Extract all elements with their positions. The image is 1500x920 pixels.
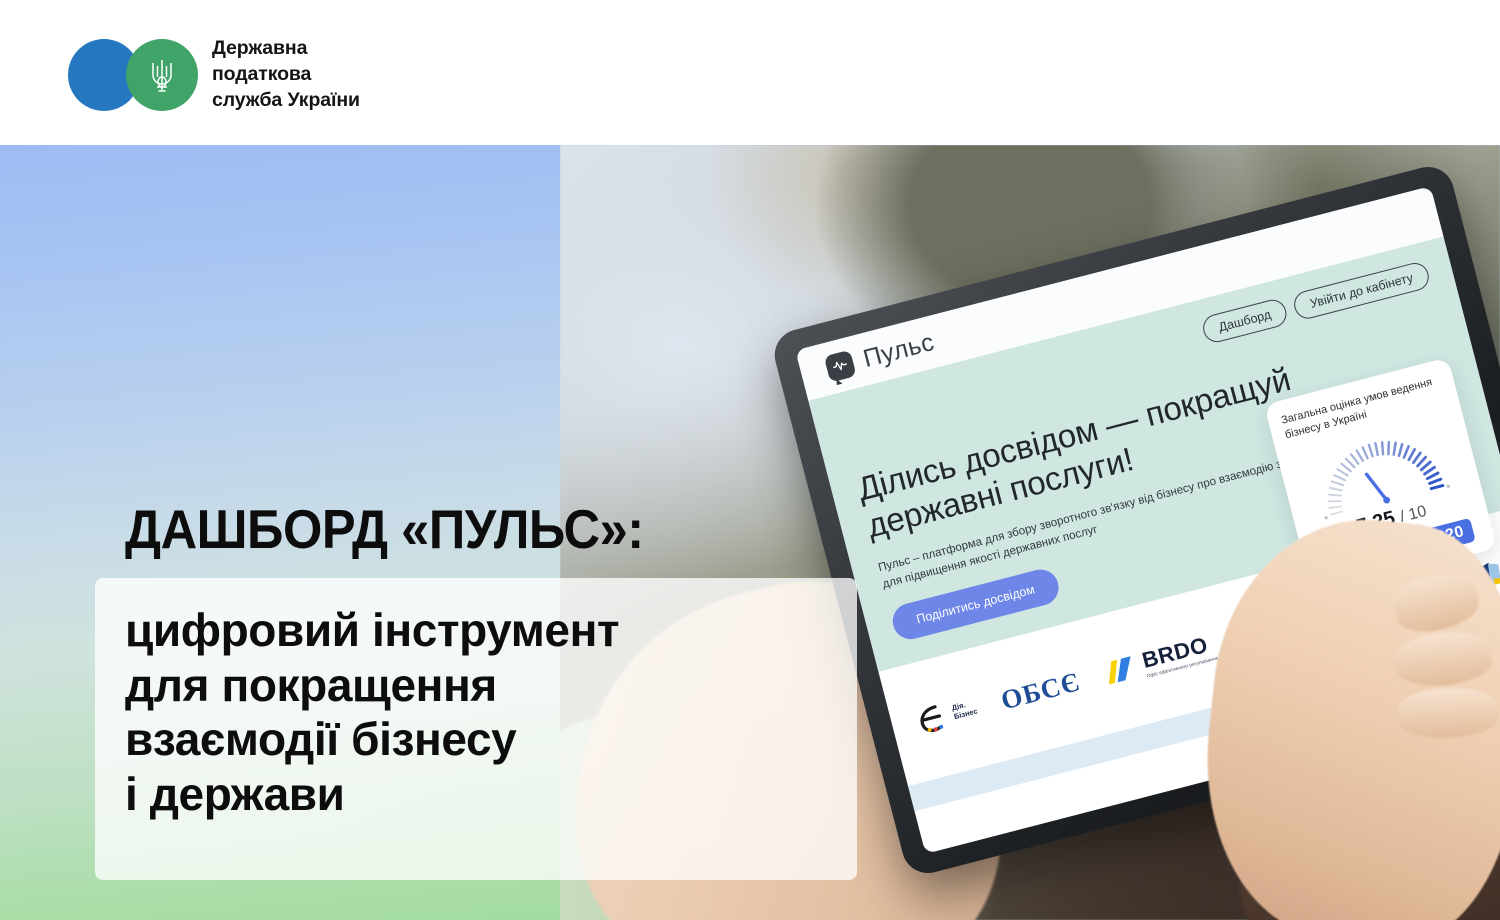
gauge-ticks [1316,430,1443,515]
logo-marks [68,39,200,111]
nav-dashboard-button[interactable]: Дашборд [1200,297,1290,346]
brdo-mark-icon [1101,651,1141,689]
partner-diia-label: Дія. Бізнес [951,699,979,722]
gauge-max-dot [1446,484,1450,488]
gauge-min-dot [1324,516,1328,520]
pulse-logo-icon [824,349,857,382]
org-line-1: Державна [212,36,360,62]
brdo-wordmark: BRDO Офіс ефективного регулювання [1139,630,1219,680]
tryzub-icon [147,55,177,95]
nav-login-button[interactable]: Увійти до кабінету [1291,260,1431,322]
diia-business-icon [913,700,951,737]
promo-line-4: і держави [125,767,845,822]
partner-diia-business[interactable]: Дія. Бізнес [913,693,981,738]
org-line-2: податкова [212,62,360,88]
promo-kicker: ДАШБОРД «ПУЛЬС»: [125,497,644,561]
site-header: Державна податкова служба України [0,0,1500,145]
hero-banner: Пульс Дашборд Увійти до кабінету Ділись … [0,145,1500,920]
org-name: Державна податкова служба України [212,36,360,114]
promo-line-1: цифровий інструмент [125,603,845,658]
partner-brdo[interactable]: BRDO Офіс ефективного регулювання [1101,630,1220,690]
promo-line-3: взаємодії бізнесу [125,712,845,767]
promo-copy: цифровий інструмент для покращення взаєм… [125,603,845,821]
gauge-needle [1367,471,1387,503]
green-circle-icon [126,39,198,111]
heartbeat-icon [831,358,849,373]
org-line-3: служба України [212,88,360,114]
promo-line-2: для покращення [125,658,845,713]
obse-label: ОБСЄ [998,666,1084,716]
pulse-brand-label: Пульс [860,327,937,373]
dps-logo: Державна податкова служба України [68,36,360,114]
partner-obse[interactable]: ОБСЄ [998,666,1084,716]
